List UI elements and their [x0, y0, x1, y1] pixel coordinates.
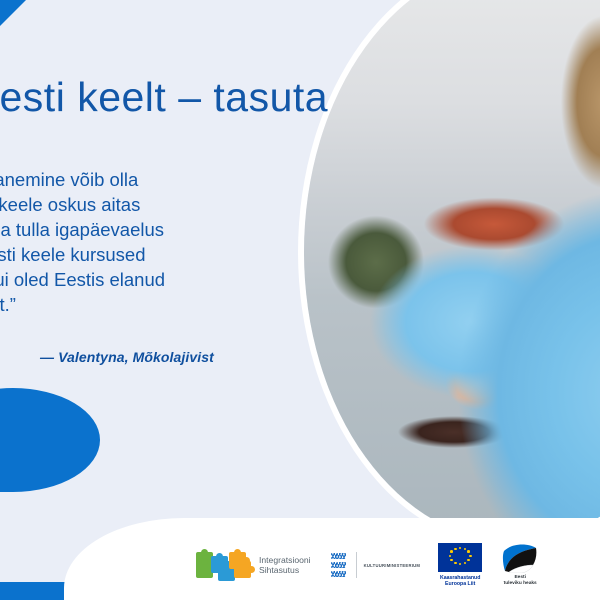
page-title: …esti keelt – tasuta: [0, 74, 428, 121]
misa-logo-line2: Sihtasutus: [259, 565, 311, 575]
divider: [356, 552, 357, 578]
quote-line: …oru ja tulla igapäevaelus: [0, 217, 286, 242]
estonia-logo-text: Eesti tuleviku heaks: [504, 575, 537, 587]
quote-line: …kohanemine võib olla: [0, 167, 286, 192]
decorative-blue-lens: [0, 388, 100, 492]
misa-logo-line1: Integratsiooni: [259, 555, 311, 565]
partner-logos: Integratsiooni Sihtasutus KULTUURIMINIST…: [196, 538, 576, 592]
estonia-logo-line2: tuleviku heaks: [504, 581, 537, 587]
quote-line: …esti keele oskus aitas: [0, 192, 286, 217]
ministry-logo-text: KULTUURIMINISTEERIUM: [364, 563, 421, 568]
decorative-corner-triangle: [0, 0, 26, 26]
misa-logo-text: Integratsiooni Sihtasutus: [259, 555, 311, 575]
estonian-coat-of-arms-icon: [329, 552, 349, 578]
testimonial-quote: …kohanemine võib olla …esti keele oskus …: [0, 167, 286, 317]
quote-line: …e, kui oled Eestis elanud: [0, 267, 286, 292]
promo-banner: …esti keelt – tasuta …kohanemine võib ol…: [0, 0, 600, 600]
eu-logo-line2: Euroopa Liit: [440, 581, 480, 587]
eesti-tuleviku-heaks-logo: Eesti tuleviku heaks: [500, 543, 540, 587]
estonian-flag-swoosh-icon: [500, 543, 540, 573]
quote-line: …astat.”: [0, 292, 286, 317]
puzzle-icon: [196, 552, 254, 578]
european-union-logo: Kaasrahastanud Euroopa Liit: [438, 543, 482, 588]
integratsiooni-sihtasutus-logo: Integratsiooni Sihtasutus: [196, 552, 311, 578]
quote-attribution: — Valentyna, Mõkolajivist: [40, 349, 214, 365]
eu-logo-text: Kaasrahastanud Euroopa Liit: [440, 575, 480, 588]
footer: Integratsiooni Sihtasutus KULTUURIMINIST…: [0, 518, 600, 600]
kultuuriministeerium-logo: KULTUURIMINISTEERIUM: [329, 552, 421, 578]
quote-line: …. Eesti keele kursused: [0, 242, 286, 267]
eu-flag-icon: [438, 543, 482, 572]
